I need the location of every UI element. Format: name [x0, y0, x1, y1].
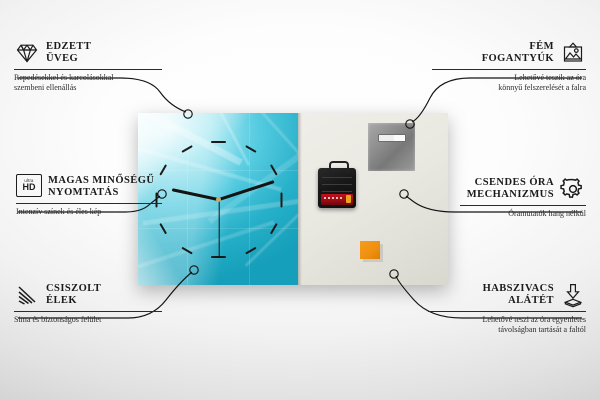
connector-endpoint-csiszolt-elek [190, 266, 198, 274]
polished-edges-icon [14, 282, 40, 308]
feature-desc-line1: Lehetővé teszi az óra egyenletes [428, 315, 586, 325]
diamond-icon [14, 40, 40, 66]
feature-title-line1: EDZETT [46, 41, 91, 54]
feature-desc-line2: könnyű felszerelését a falra [432, 83, 586, 93]
connector-endpoint-habszivacs [390, 270, 398, 278]
callout-fem-fogantyuk[interactable]: FÉM FOGANTYÚK Lehetővé teszik az óra kön… [432, 40, 586, 93]
feature-title-line1: MAGAS MINŐSÉGŰ [48, 175, 154, 188]
infographic-canvas: EDZETT ÜVEG Repedésekkel és karcolásokka… [0, 0, 600, 400]
feature-title-line2: ÜVEG [46, 53, 91, 66]
feature-desc-line1: Intenzív színek és éles kép [16, 207, 166, 217]
feature-title-line2: ALÁTÉT [508, 295, 554, 308]
feature-title-line2: FOGANTYÚK [482, 53, 554, 66]
callout-edzett-uveg[interactable]: EDZETT ÜVEG Repedésekkel és karcolásokka… [14, 40, 164, 93]
feature-title-line1: HABSZIVACS [483, 283, 554, 296]
callout-csendes-ora-mechanizmus[interactable]: CSENDES ÓRA MECHANIZMUS Óramutatók hang … [460, 176, 586, 219]
feature-desc-line1: Repedésekkel és karcolásokkal [14, 73, 164, 83]
feature-desc-line2: távolságban tartását a faltól [428, 325, 586, 335]
callout-csiszolt-elek[interactable]: CSISZOLT ÉLEK Sima és biztonságos felüle… [14, 282, 164, 325]
feature-desc-line1: Óramutatók hang nélkül [460, 209, 586, 219]
feature-desc-line1: Sima és biztonságos felület [14, 315, 164, 325]
foam-pad-arrow-icon [560, 282, 586, 308]
callout-magas-minosegu-nyomtatas[interactable]: ultra HD MAGAS MINŐSÉGŰ NYOMTATÁS Intenz… [16, 174, 166, 217]
callout-divider [14, 69, 162, 70]
ultra-hd-icon: ultra HD [16, 174, 42, 200]
feature-title-line1: CSENDES ÓRA [475, 177, 554, 190]
ultra-hd-icon-main-label: HD [23, 183, 36, 193]
feature-desc-line1: Lehetővé teszik az óra [432, 73, 586, 83]
gear-icon [560, 176, 586, 202]
feature-title-line2: ÉLEK [46, 295, 101, 308]
callout-divider [460, 205, 586, 206]
feature-title-line1: CSISZOLT [46, 283, 101, 296]
connector-endpoint-csendes-mechanizmus [400, 190, 408, 198]
feature-title-line2: MECHANIZMUS [467, 189, 554, 202]
callout-divider [428, 311, 586, 312]
callout-divider [432, 69, 586, 70]
callout-habszivacs-alatet[interactable]: HABSZIVACS ALÁTÉT Lehetővé teszi az óra … [428, 282, 586, 335]
callout-divider [16, 203, 162, 204]
connector-endpoint-fem-fogantyuk [406, 120, 414, 128]
connector-endpoint-edzett-uveg [184, 110, 192, 118]
feature-title-line2: NYOMTATÁS [48, 187, 154, 200]
feature-desc-line2: szembeni ellenállás [14, 83, 164, 93]
wall-mount-frame-icon [560, 40, 586, 66]
callout-divider [14, 311, 162, 312]
feature-title-line1: FÉM [529, 41, 554, 54]
